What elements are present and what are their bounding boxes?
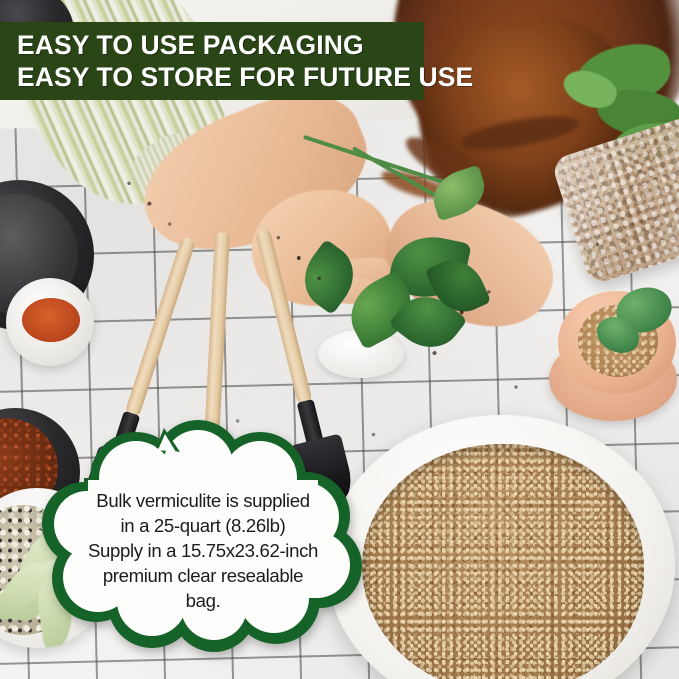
callout-line-2: in a 25-quart (8.26lb) <box>64 513 342 538</box>
callout-bubble: Bulk vermiculite is supplied in a 25-qua… <box>38 420 368 652</box>
callout-line-1: Bulk vermiculite is supplied <box>64 488 342 513</box>
vermiculite-in-bowl <box>362 444 644 679</box>
callout-line-5: bag. <box>64 588 342 613</box>
callout-line-3: Supply in a 15.75x23.62-inch <box>64 538 342 563</box>
red-powder <box>22 298 80 342</box>
callout-text: Bulk vermiculite is supplied in a 25-qua… <box>64 488 342 613</box>
callout-line-4: premium clear resealable <box>64 563 342 588</box>
headline-line-2: EASY TO STORE FOR FUTURE USE <box>17 61 424 93</box>
headline-banner: EASY TO USE PACKAGING EASY TO STORE FOR … <box>0 22 424 100</box>
product-lifestyle-image: EASY TO USE PACKAGING EASY TO STORE FOR … <box>0 0 679 679</box>
headline-line-1: EASY TO USE PACKAGING <box>17 29 424 61</box>
